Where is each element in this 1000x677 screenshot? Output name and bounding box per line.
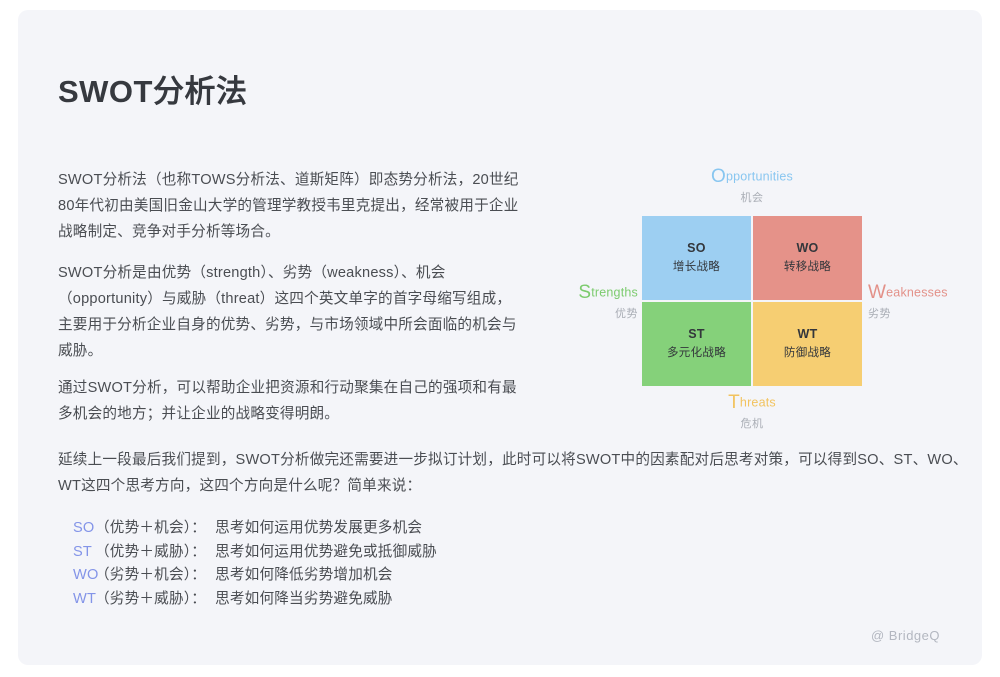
- list-item: SO （优势＋机会）： 思考如何运用优势发展更多机会: [58, 516, 578, 540]
- quadrant-code: WT: [797, 325, 817, 344]
- watermark: @ BridgeQ: [871, 628, 940, 643]
- axis-initial-s: S: [578, 282, 591, 303]
- axis-initial-w: W: [868, 282, 886, 303]
- strategy-list: SO （优势＋机会）： 思考如何运用优势发展更多机会 ST （优势＋威胁）： 思…: [58, 516, 578, 610]
- swot-matrix: Opportunities 机会 Strengths 优势 Weaknesses…: [528, 160, 973, 435]
- strategy-description: 思考如何运用优势避免或抵御威胁: [206, 540, 437, 561]
- quadrant-code: ST: [688, 325, 705, 344]
- axis-label-weaknesses-cn: 劣势: [868, 305, 982, 321]
- axis-rest-threats: hreats: [740, 396, 776, 410]
- body-paragraph-2: SWOT分析是由优势（strength）、劣势（weakness）、机会（opp…: [58, 260, 525, 364]
- axis-label-opportunities-cn: 机会: [642, 189, 862, 205]
- strategy-description: 思考如何运用优势发展更多机会: [206, 516, 422, 537]
- body-paragraph-1: SWOT分析法（也称TOWS分析法、道斯矩阵）即态势分析法，20世纪80年代初由…: [58, 167, 525, 245]
- axis-label-opportunities-en: Opportunities: [642, 166, 862, 188]
- strategy-code-st: ST: [58, 544, 95, 560]
- strategy-condition: （优势＋威胁）：: [95, 540, 206, 561]
- strategy-condition: （劣势＋威胁）：: [95, 587, 206, 608]
- strategy-condition: （优势＋机会）：: [95, 516, 206, 537]
- list-item: WT （劣势＋威胁）： 思考如何降当劣势避免威胁: [58, 587, 578, 611]
- page-title: SWOT分析法: [58, 66, 248, 111]
- quadrant-st[interactable]: ST 多元化战略: [642, 302, 751, 386]
- strategy-code-so: SO: [58, 520, 95, 536]
- axis-label-strengths-cn: 优势: [528, 305, 638, 321]
- list-item: WO （劣势＋机会）： 思考如何降低劣势增加机会: [58, 563, 578, 587]
- strategy-condition: （劣势＋机会）：: [95, 563, 206, 584]
- axis-label-opportunities: Opportunities 机会: [642, 166, 862, 205]
- strategy-description: 思考如何降低劣势增加机会: [206, 563, 393, 584]
- axis-rest-opportunities: pportunities: [726, 170, 793, 184]
- quadrant-wt[interactable]: WT 防御战略: [753, 302, 862, 386]
- strategy-code-wt: WT: [58, 591, 95, 607]
- axis-rest-weaknesses: eaknesses: [886, 286, 948, 300]
- quadrant-code: SO: [687, 239, 706, 258]
- strategy-code-wo: WO: [58, 567, 95, 583]
- axis-initial-t: T: [728, 392, 740, 413]
- axis-label-threats-cn: 危机: [642, 415, 862, 431]
- quadrant-wo[interactable]: WO 转移战略: [753, 216, 862, 300]
- quadrant-label: 增长战略: [673, 259, 720, 277]
- axis-label-weaknesses-en: Weaknesses: [868, 282, 982, 304]
- quadrant-label: 防御战略: [784, 345, 831, 363]
- quadrant-so[interactable]: SO 增长战略: [642, 216, 751, 300]
- quadrant-code: WO: [796, 239, 818, 258]
- body-paragraph-4: 延续上一段最后我们提到，SWOT分析做完还需要进一步拟订计划，此时可以将SWOT…: [58, 447, 968, 499]
- axis-rest-strengths: trengths: [591, 286, 638, 300]
- axis-label-threats: Threats 危机: [642, 392, 862, 431]
- axis-initial-o: O: [711, 166, 726, 187]
- axis-label-strengths: Strengths 优势: [528, 282, 638, 321]
- axis-label-weaknesses: Weaknesses 劣势: [868, 282, 982, 321]
- axis-label-threats-en: Threats: [642, 392, 862, 414]
- slide-card: SWOT分析法 SWOT分析法（也称TOWS分析法、道斯矩阵）即态势分析法，20…: [18, 10, 982, 665]
- list-item: ST （优势＋威胁）： 思考如何运用优势避免或抵御威胁: [58, 540, 578, 564]
- matrix-grid: SO 增长战略 WO 转移战略 ST 多元化战略 WT 防御战略: [642, 216, 862, 386]
- axis-label-strengths-en: Strengths: [528, 282, 638, 304]
- quadrant-label: 多元化战略: [667, 345, 726, 363]
- strategy-description: 思考如何降当劣势避免威胁: [206, 587, 393, 608]
- body-paragraph-3: 通过SWOT分析，可以帮助企业把资源和行动聚集在自己的强项和有最多机会的地方；并…: [58, 375, 525, 427]
- quadrant-label: 转移战略: [784, 259, 831, 277]
